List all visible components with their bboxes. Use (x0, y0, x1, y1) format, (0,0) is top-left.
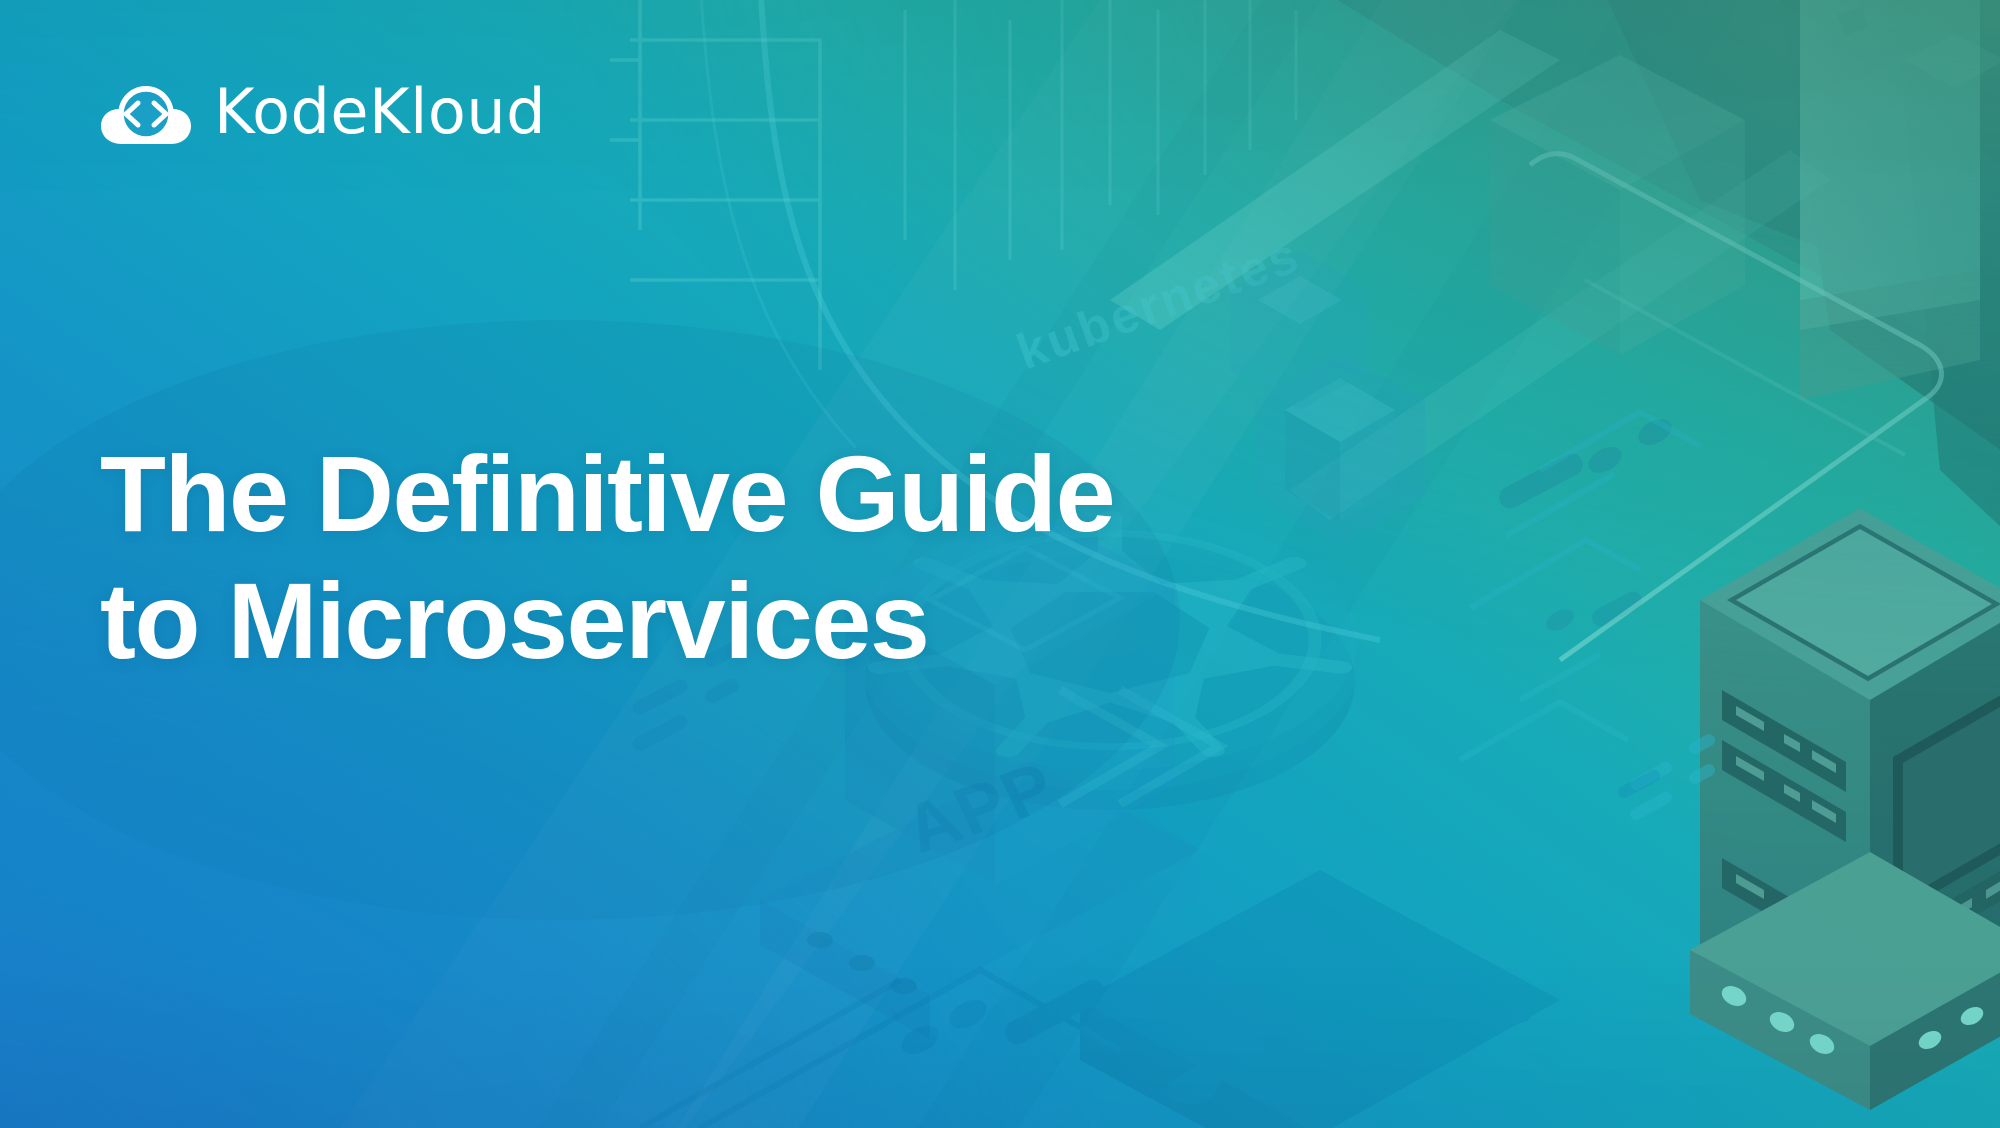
cover-title: The Definitive Guide to Microservices (100, 430, 1114, 685)
brand-wordmark: KodeKloud (214, 81, 546, 143)
bg-chevrons (610, 0, 820, 370)
kodekloud-logo[interactable]: KodeKloud (100, 78, 546, 150)
title-line-1: The Definitive Guide (100, 430, 1114, 557)
cloud-code-icon (100, 78, 192, 150)
isometric-server-rack (1690, 508, 2000, 1110)
title-line-2: to Microservices (100, 557, 1114, 684)
cover-canvas: kubernetes (0, 0, 2000, 1128)
